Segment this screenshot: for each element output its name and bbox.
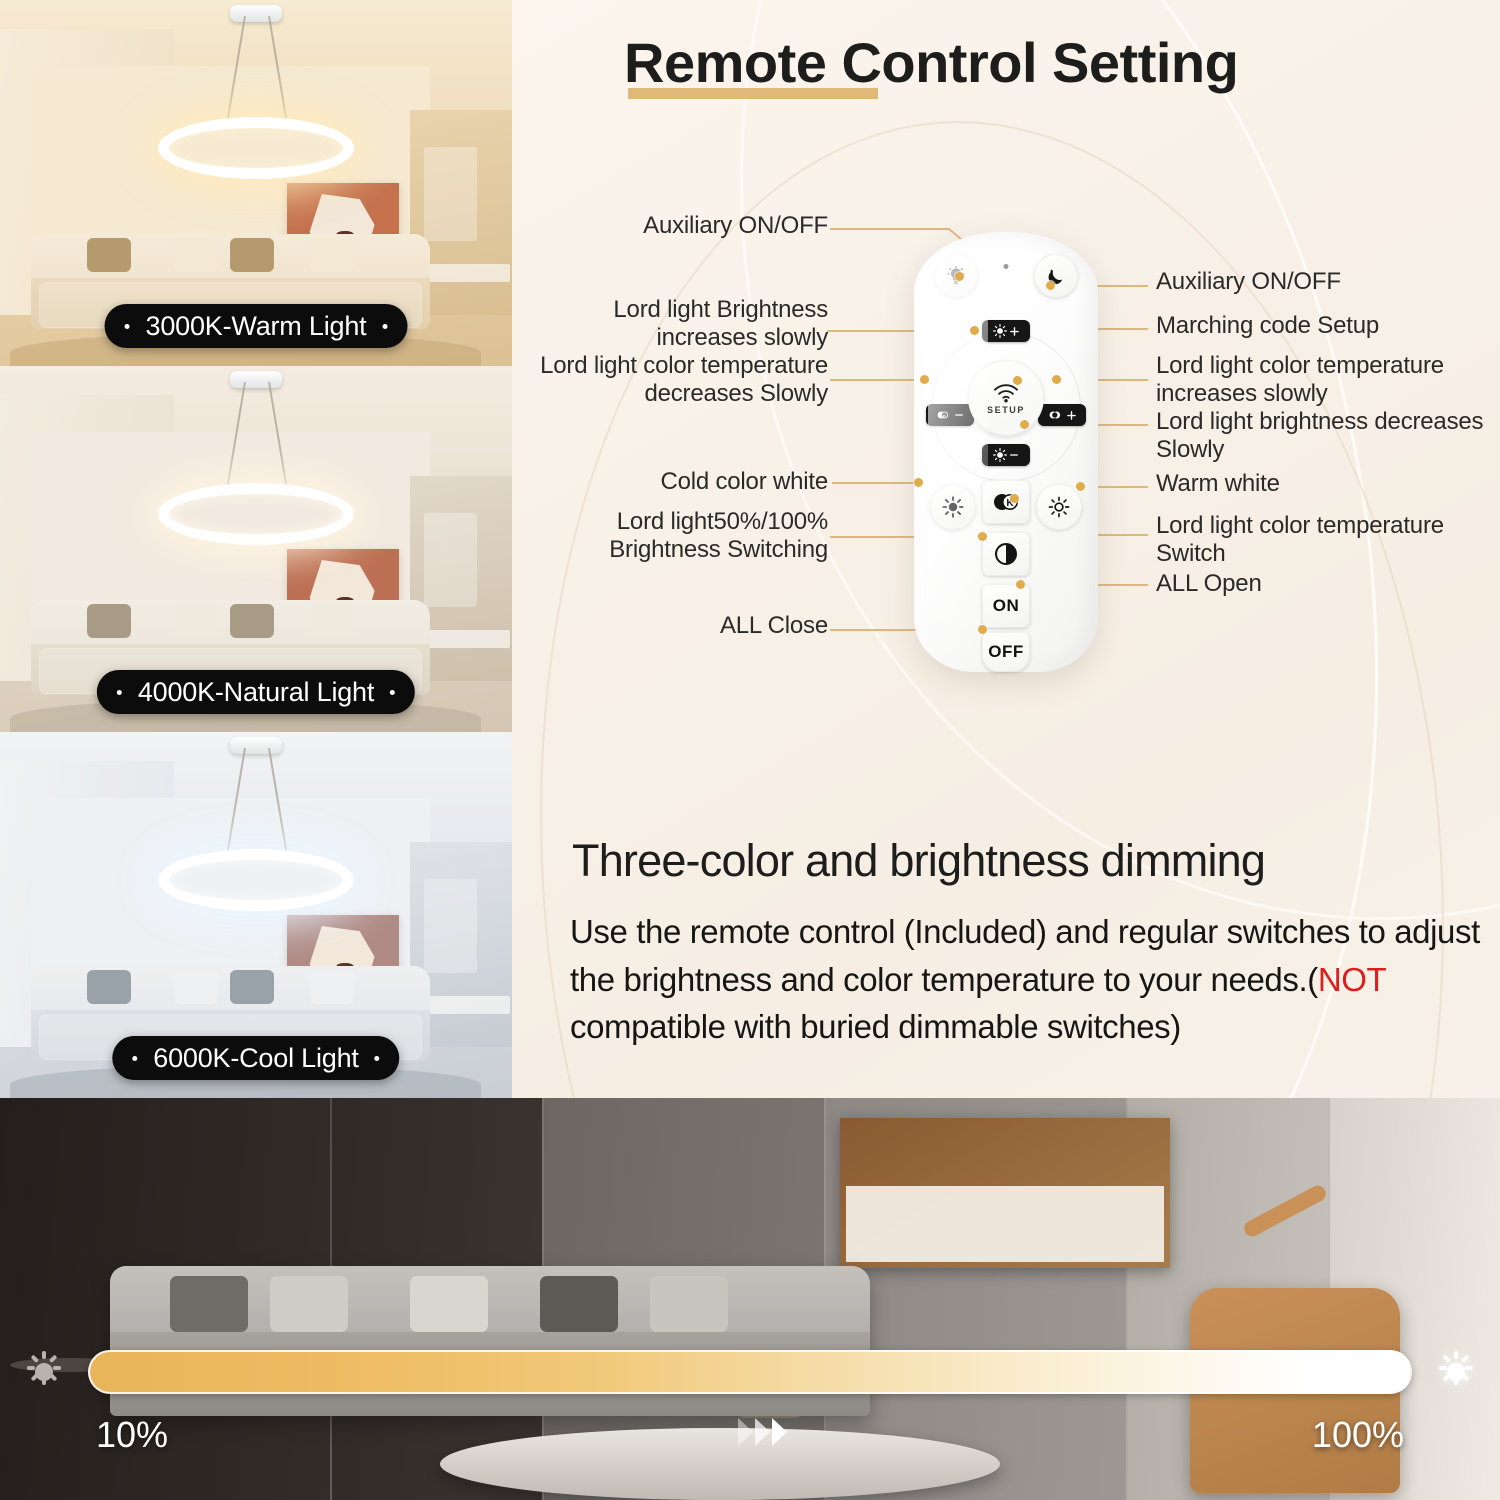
sun-ray <box>1454 1377 1458 1385</box>
badge-dot-icon <box>375 1056 380 1061</box>
section-subheading: Three-color and brightness dimming <box>572 835 1265 887</box>
brightness-decrease-key[interactable] <box>982 444 1030 466</box>
slider-min-label: 10% <box>96 1414 168 1456</box>
leader-dot <box>1076 482 1085 491</box>
sun-bright-icon <box>1436 1352 1476 1392</box>
kelvin-icon <box>1048 408 1064 422</box>
sun-ray <box>1443 1355 1451 1363</box>
warm-white-button[interactable] <box>1036 484 1082 530</box>
body-text-not: NOT <box>1318 961 1386 998</box>
pillow <box>310 970 354 1004</box>
pillow <box>410 1276 488 1332</box>
remote-diagram-panel: Remote Control Setting <box>512 0 1500 1098</box>
lamp-ceiling-mount <box>230 5 282 22</box>
pillow <box>230 970 274 1004</box>
sun-ray <box>1461 1373 1469 1381</box>
page-title: Remote Control Setting <box>624 30 1238 95</box>
label-all-close: ALL Close <box>522 612 828 640</box>
label-cold-color-white: Cold color white <box>522 468 828 496</box>
pillow <box>540 1276 618 1332</box>
pillow <box>230 238 274 272</box>
pillow <box>310 238 354 272</box>
off-label: OFF <box>988 642 1024 662</box>
sun-icon <box>993 448 1007 462</box>
sun-ray <box>1465 1366 1473 1370</box>
minus-icon <box>1009 450 1019 460</box>
label-warm-white: Warm white <box>1156 470 1486 498</box>
pillow <box>87 604 131 638</box>
leader-dot <box>955 272 964 281</box>
badge-label: 3000K-Warm Light <box>146 311 367 342</box>
badge-dot-icon <box>382 324 387 329</box>
badge-label: 4000K-Natural Light <box>138 677 374 708</box>
label-color-temp-increase: Lord light color temperature increases s… <box>1156 352 1500 409</box>
kelvin-icon: K <box>936 408 952 422</box>
sun-outline-icon <box>1048 496 1070 518</box>
ring-pendant-light <box>158 849 354 911</box>
top-section: 3000K-Warm Light <box>0 0 1500 1098</box>
ring-pendant-light <box>158 483 354 545</box>
sun-filled-icon <box>942 496 964 518</box>
section-body-text: Use the remote control (Included) and re… <box>570 908 1490 1051</box>
label-all-open: ALL Open <box>1156 570 1486 598</box>
setup-pairing-button[interactable]: SETUP <box>968 360 1044 436</box>
sun-ray <box>1461 1355 1469 1363</box>
plus-icon <box>1009 326 1020 337</box>
minus-icon <box>954 410 964 420</box>
label-brightness-decrease: Lord light brightness decreases Slowly <box>1156 408 1500 465</box>
brightness-increase-key[interactable] <box>982 320 1030 342</box>
sun-ray <box>42 1377 46 1385</box>
all-close-off-button[interactable]: OFF <box>982 632 1030 672</box>
label-auxiliary-on-off-left: Auxiliary ON/OFF <box>520 212 828 240</box>
leader-dot <box>914 478 923 487</box>
chevron-right-icon <box>738 1418 753 1446</box>
sun-ray <box>53 1366 61 1370</box>
badge-dot-icon <box>132 1056 137 1061</box>
niche-shelf <box>428 996 510 1014</box>
leader-dot <box>970 326 979 335</box>
sun-icon <box>993 324 1007 338</box>
pillow <box>87 238 131 272</box>
leader-line <box>830 228 950 230</box>
color-temperature-badge: 6000K-Cool Light <box>112 1036 399 1080</box>
auxiliary-on-off-moon-button[interactable] <box>1034 254 1078 298</box>
sun-ray <box>31 1355 39 1363</box>
on-label: ON <box>993 596 1020 616</box>
leader-dot <box>920 375 929 384</box>
color-temp-increase-key[interactable] <box>1038 404 1086 426</box>
leader-dot <box>978 532 987 541</box>
room-photo-warm: 3000K-Warm Light <box>0 0 512 366</box>
pillow <box>270 1276 348 1332</box>
sun-ray <box>1454 1351 1458 1359</box>
lamp-ceiling-mount <box>230 737 282 754</box>
wall-artwork <box>840 1118 1170 1268</box>
remote-control-device: K <box>914 232 1098 672</box>
lamp-ceiling-mount <box>230 371 282 388</box>
leader-dot <box>1020 420 1029 429</box>
pillow <box>174 238 218 272</box>
all-open-on-button[interactable]: ON <box>982 584 1030 628</box>
leader-dot <box>1010 494 1019 503</box>
label-brightness-increase: Lord light Brightness increases slowly <box>512 296 828 353</box>
dimming-demo-photo: 10% 100% <box>0 1098 1500 1500</box>
leader-dot <box>1013 376 1022 385</box>
pillow <box>174 970 218 1004</box>
sun-ray <box>49 1355 57 1363</box>
pillow <box>170 1276 248 1332</box>
sun-ray <box>49 1373 57 1381</box>
pillow <box>87 970 131 1004</box>
label-brightness-switching: Lord light50%/100% Brightness Switching <box>518 508 828 565</box>
pillow <box>174 604 218 638</box>
pillow <box>310 604 354 638</box>
body-text-part2: compatible with buried dimmable switches… <box>570 1008 1181 1045</box>
pillow <box>650 1276 728 1332</box>
leader-dot <box>1046 281 1055 290</box>
leader-line <box>832 482 918 484</box>
leader-line <box>830 379 925 381</box>
badge-label: 6000K-Cool Light <box>153 1043 358 1074</box>
leader-dot <box>1052 375 1061 384</box>
badge-dot-icon <box>390 690 395 695</box>
badge-dot-icon <box>125 324 130 329</box>
setup-label: SETUP <box>987 405 1025 415</box>
label-marching-code-setup: Marching code Setup <box>1156 312 1486 340</box>
brightness-slider-track[interactable] <box>88 1350 1412 1394</box>
color-temp-switch-button[interactable]: K <box>982 480 1030 524</box>
leader-dot <box>978 625 987 634</box>
brightness-direction-chevrons <box>738 1418 787 1446</box>
sun-ray <box>1439 1366 1447 1370</box>
color-temp-decrease-key[interactable]: K <box>926 404 974 426</box>
room-photo-natural: 4000K-Natural Light <box>0 366 512 732</box>
slider-max-label: 100% <box>1312 1414 1404 1456</box>
plus-icon <box>1066 410 1077 421</box>
sun-ray <box>27 1366 35 1370</box>
brightness-slider-overlay: 10% 100% <box>0 1330 1500 1500</box>
ring-pendant-light <box>158 117 354 179</box>
pillow <box>230 604 274 638</box>
chevron-right-icon <box>755 1418 770 1446</box>
label-auxiliary-on-off-right: Auxiliary ON/OFF <box>1156 268 1486 296</box>
sun-ray <box>42 1351 46 1359</box>
cold-white-button[interactable] <box>930 484 976 530</box>
niche-shelf <box>428 630 510 648</box>
label-color-temp-switch: Lord light color temperature Switch <box>1156 512 1500 569</box>
sun-dim-icon <box>24 1352 64 1392</box>
niche-shelf <box>428 264 510 282</box>
leader-dot <box>1016 580 1025 589</box>
half-contrast-icon <box>993 541 1019 567</box>
ir-indicator-dot <box>1004 264 1009 269</box>
label-color-temp-decrease: Lord light color temperature decreases S… <box>512 352 828 409</box>
svg-text:K: K <box>943 413 947 419</box>
color-temperature-badge: 3000K-Warm Light <box>105 304 408 348</box>
brightness-5050-switch-button[interactable] <box>982 532 1030 576</box>
color-temperature-badge: 4000K-Natural Light <box>97 670 415 714</box>
color-temperature-photo-column: 3000K-Warm Light <box>0 0 512 1098</box>
chevron-right-icon <box>772 1418 787 1446</box>
badge-dot-icon <box>117 690 122 695</box>
room-photo-cool: 6000K-Cool Light <box>0 732 512 1098</box>
